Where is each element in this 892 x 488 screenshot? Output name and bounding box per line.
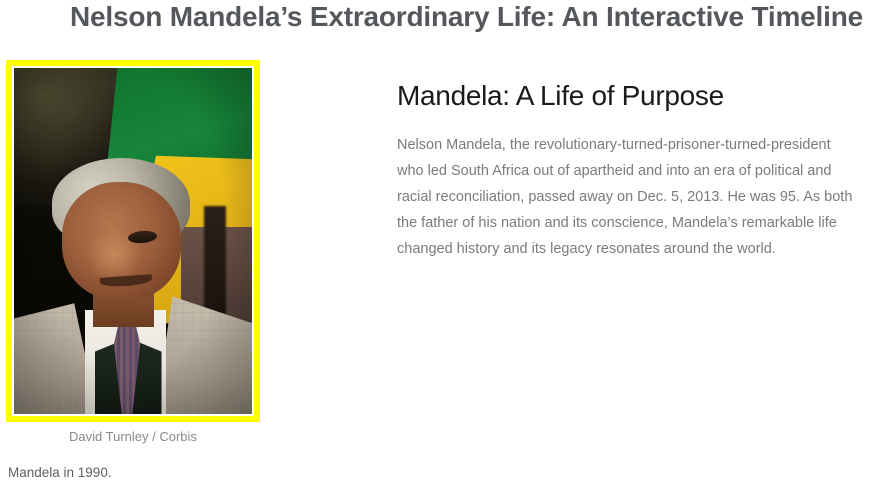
page-title: Nelson Mandela’s Extraordinary Life: An … <box>70 0 890 36</box>
photo-credit: David Turnley / Corbis <box>0 428 266 446</box>
mandela-photo <box>14 68 252 414</box>
media-column: David Turnley / Corbis Mandela in 1990. <box>0 60 280 482</box>
photo-inner-mat <box>12 66 254 416</box>
article-column: Mandela: A Life of Purpose Nelson Mandel… <box>397 78 867 262</box>
article-body: Nelson Mandela, the revolutionary-turned… <box>397 132 859 262</box>
photo-vignette <box>14 68 252 414</box>
article-heading: Mandela: A Life of Purpose <box>397 78 867 114</box>
photo-caption: Mandela in 1990. <box>8 464 280 482</box>
photo-frame <box>6 60 260 422</box>
